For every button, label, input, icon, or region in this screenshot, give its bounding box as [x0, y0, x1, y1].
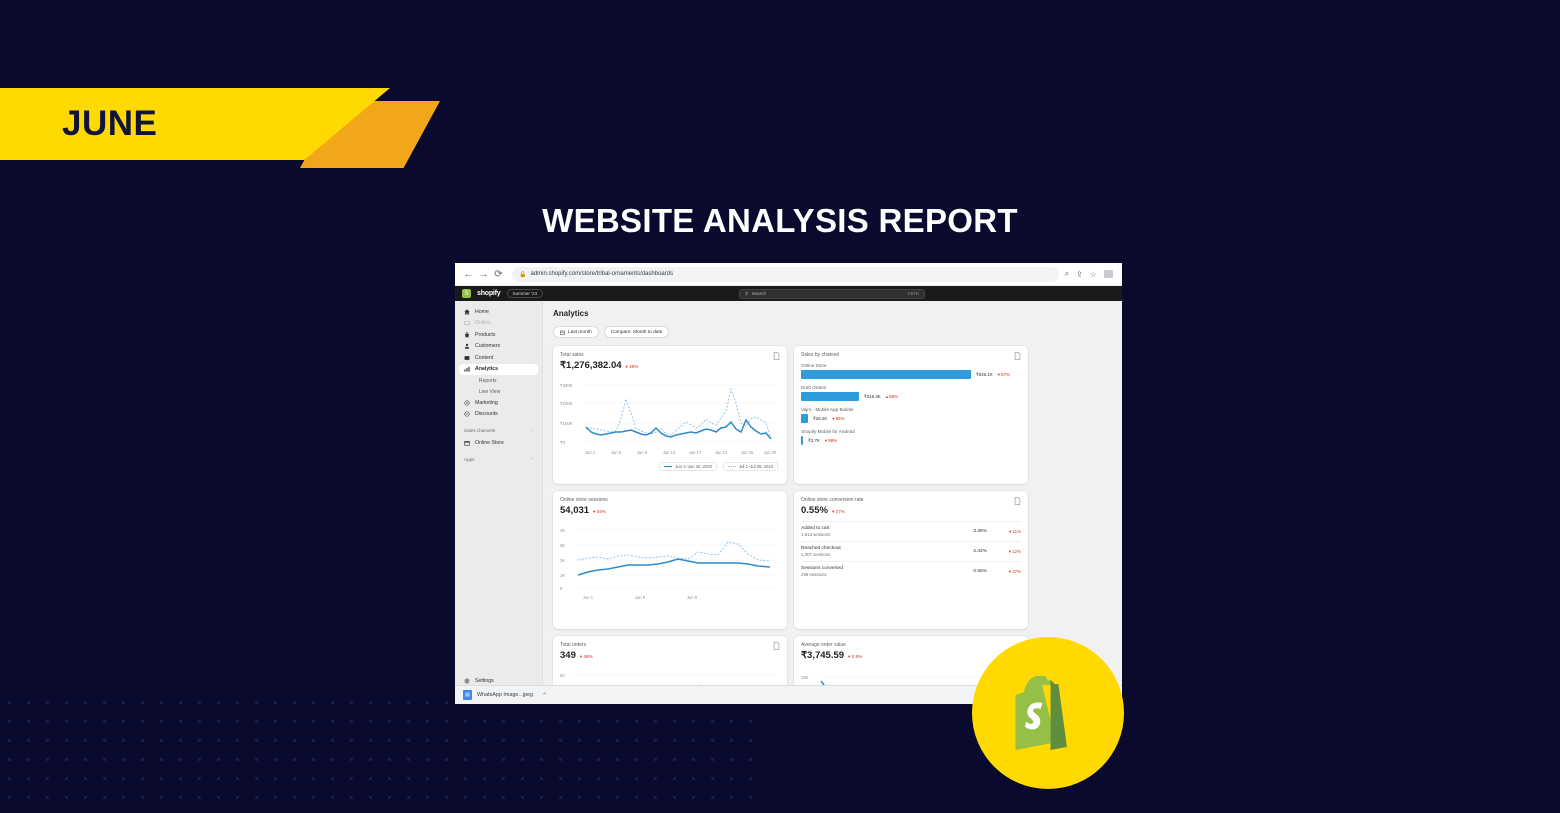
channel-rows: Online Store ₹926.1K ▾ 57% Draft Orders [801, 363, 1021, 445]
section-label: Sales channels [464, 428, 495, 433]
chart-legend: Jun 1–Jun 30, 2023 Jul 1–Jul 29, 2023 [560, 462, 780, 471]
chevron-up-icon[interactable]: ⌃ [542, 692, 547, 699]
legend-item[interactable]: Jul 1–Jul 29, 2023 [723, 462, 778, 471]
svg-text:₹100K: ₹100K [560, 421, 573, 426]
sidebar-subitem-live-view[interactable]: Live View [459, 386, 538, 397]
channel-delta: ▾ 56% [832, 416, 844, 422]
analytics-content: Analytics Last month Compare: Month to d… [543, 301, 1122, 695]
report-icon[interactable] [1014, 352, 1021, 360]
row-delta: ▾ 27% [987, 569, 1021, 575]
channel-label: Vajro - Mobile App Builder [801, 407, 1021, 412]
card-title: Sales by channel [801, 352, 1021, 358]
sidebar-item-label: Settings [475, 678, 494, 684]
report-icon[interactable] [773, 352, 780, 360]
sidebar-item-label: Discounts [475, 411, 498, 417]
extensions-icon[interactable] [1104, 270, 1113, 278]
svg-text:Jun 9: Jun 9 [687, 595, 698, 600]
channel-row: Vajro - Mobile App Builder ₹28.2K ▾ 56% [801, 407, 1021, 423]
svg-text:₹200K: ₹200K [560, 401, 573, 406]
card-title: Online store sessions [560, 497, 780, 503]
page-title: WEBSITE ANALYSIS REPORT [0, 202, 1560, 240]
channel-value: ₹926.1K [976, 372, 993, 378]
back-icon[interactable]: ← [461, 267, 476, 282]
channel-bar [801, 392, 859, 401]
sidebar-item-online-store[interactable]: Online Store [459, 437, 538, 449]
row-delta: ▾ 11% [987, 529, 1021, 535]
svg-text:15K: 15K [801, 675, 809, 680]
chrome-toolbar-icons: ⌕ ⇪ ☆ [1065, 269, 1116, 279]
row-name: Added to cart [801, 526, 830, 531]
channel-value: ₹316.3K [864, 394, 881, 400]
star-icon[interactable]: ☆ [1090, 270, 1097, 279]
total-sales-chart: ₹300K₹200K ₹100K₹0 Jun 1Jun 5 [560, 377, 780, 459]
channel-bar [801, 414, 808, 423]
row-name: Sessions converted [801, 566, 843, 571]
sidebar-section-apps[interactable]: Apps › [455, 453, 542, 466]
sidebar-item-discounts[interactable]: Discounts [459, 409, 538, 421]
sessions-chart: 4K3K 2K1K0 Jun 1Jun 5Jun 9 [560, 522, 780, 604]
card-title: Total sales [560, 352, 780, 358]
chevron-right-icon: › [531, 456, 533, 462]
svg-text:Jun 21: Jun 21 [715, 450, 728, 455]
sidebar-item-label: Products [475, 332, 495, 338]
shopify-wordmark: shopify [477, 290, 501, 297]
discounts-icon [464, 411, 470, 417]
card-value: 54,031 ▾ 34% [560, 505, 780, 516]
svg-text:Jun 1: Jun 1 [585, 450, 596, 455]
sidebar-item-marketing[interactable]: Marketing [459, 397, 538, 409]
sidebar-item-customers[interactable]: Customers [459, 341, 538, 353]
table-row[interactable]: Added to cart 1,813 sessions 3.36% ▾ 11% [801, 521, 1021, 541]
sidebar-item-label: Content [475, 355, 493, 361]
sidebar-item-label: Home [475, 309, 489, 315]
channel-delta: ▾ 58% [825, 438, 837, 444]
card-value: 349 ▾ 48% [560, 650, 780, 661]
value-text: 54,031 [560, 505, 589, 516]
sidebar-item-label: Marketing [475, 400, 498, 406]
table-row[interactable]: Sessions converted 295 sessions 0.55% ▾ … [801, 561, 1021, 581]
reload-icon[interactable]: ⟳ [491, 267, 506, 282]
value-text: ₹3,745.59 [801, 650, 844, 661]
card-value: ₹3,745.59 ▾ 0.8% [801, 650, 1021, 661]
lock-icon: 🔒 [519, 271, 526, 278]
row-name: Reached checkout [801, 546, 841, 551]
delta-badge: ▾ 0.8% [848, 654, 862, 660]
sidebar-item-label: Analytics [475, 366, 498, 372]
date-range-filter[interactable]: Last month [553, 326, 599, 338]
sidebar-item-orders[interactable]: Orders [459, 318, 538, 330]
calendar-icon [560, 330, 565, 335]
search-placeholder: Search [751, 291, 766, 296]
delta-badge: ▾ 27% [832, 509, 845, 515]
svg-text:₹0: ₹0 [560, 440, 566, 445]
value-text: 0.55% [801, 505, 828, 516]
channel-row: Online Store ₹926.1K ▾ 57% [801, 363, 1021, 379]
card-online-store-sessions: Online store sessions 54,031 ▾ 34% 4K3K … [553, 491, 787, 629]
svg-text:Jun 17: Jun 17 [689, 450, 702, 455]
browser-window: ← → ⟳ 🔒 admin.shopify.com/store/tribal-o… [455, 263, 1122, 704]
browser-chrome: ← → ⟳ 🔒 admin.shopify.com/store/tribal-o… [455, 263, 1122, 286]
sidebar-item-label: Orders [475, 320, 491, 326]
row-pct: 2.42% [973, 549, 987, 554]
card-conversion-rate: Online store conversion rate 0.55% ▾ 27%… [794, 491, 1028, 629]
svg-text:Jun 5: Jun 5 [635, 595, 646, 600]
customers-icon [464, 343, 470, 349]
channel-row: Shopify Mobile for Android ₹3.7K ▾ 58% [801, 429, 1021, 445]
card-sales-by-channel: Sales by channel Online Store ₹926.1K ▾ … [794, 346, 1028, 484]
svg-text:Jun 1: Jun 1 [583, 595, 594, 600]
legend-line-solid [664, 466, 672, 467]
dot-texture [0, 693, 760, 813]
channel-label: Draft Orders [801, 385, 1021, 390]
row-pct: 3.36% [973, 529, 987, 534]
channel-delta: ▴ 69% [886, 394, 898, 400]
svg-text:Jun 5: Jun 5 [611, 450, 622, 455]
channel-value: ₹28.2K [813, 416, 827, 422]
delta-badge: ▾ 48% [626, 364, 639, 370]
channel-delta: ▾ 57% [998, 372, 1010, 378]
report-icon[interactable] [773, 642, 780, 650]
store-icon [464, 440, 470, 446]
forward-icon[interactable]: → [476, 267, 491, 282]
analytics-icon [464, 366, 470, 372]
channel-bar [801, 370, 971, 379]
row-pct: 0.55% [973, 569, 987, 574]
legend-line-dotted [728, 466, 736, 467]
shopify-bag-icon [1015, 676, 1081, 750]
sidebar-item-home[interactable]: Home [459, 306, 538, 318]
chevron-right-icon: › [531, 428, 533, 434]
sidebar-item-products[interactable]: Products [459, 329, 538, 341]
orders-icon [464, 320, 470, 326]
svg-text:₹300K: ₹300K [560, 383, 573, 388]
value-text: ₹1,276,382.04 [560, 360, 622, 371]
channel-row: Draft Orders ₹316.3K ▴ 69% [801, 385, 1021, 401]
sidebar-subitem-reports[interactable]: Reports [459, 375, 538, 386]
search-input[interactable]: ⚲ Search Ctrl K [739, 289, 925, 299]
address-bar[interactable]: 🔒 admin.shopify.com/store/tribal-ornamen… [512, 267, 1059, 282]
compare-filter[interactable]: Compare: Month to date [604, 326, 670, 338]
content-icon [464, 355, 470, 361]
store-badge[interactable]: Summer '23 [507, 289, 544, 298]
section-label: Apps [464, 457, 474, 462]
svg-text:60: 60 [560, 673, 565, 678]
analytics-heading: Analytics [553, 309, 1122, 318]
row-delta: ▾ 12% [987, 549, 1021, 555]
sidebar-item-label: Online Store [475, 440, 504, 446]
card-value: ₹1,276,382.04 ▾ 48% [560, 360, 780, 371]
gear-icon [464, 678, 470, 684]
delta-badge: ▾ 34% [593, 509, 606, 515]
svg-text:0: 0 [560, 586, 563, 591]
svg-text:3K: 3K [560, 543, 565, 548]
card-title: Total orders [560, 642, 780, 648]
sidebar-item-label: Customers [475, 343, 500, 349]
table-row[interactable]: Reached checkout 1,307 sessions 2.42% ▾ … [801, 541, 1021, 561]
svg-text:1K: 1K [560, 573, 565, 578]
filter-label: Last month [568, 330, 592, 335]
report-icon[interactable] [1014, 497, 1021, 505]
row-sub: 1,307 sessions [801, 552, 841, 557]
row-sub: 1,813 sessions [801, 532, 830, 537]
card-title: Online store conversion rate [801, 497, 1021, 503]
channel-label: Online Store [801, 363, 1021, 368]
svg-text:Jun 9: Jun 9 [637, 450, 648, 455]
url-text: admin.shopify.com/store/tribal-ornaments… [530, 271, 673, 277]
search-icon: ⚲ [745, 291, 748, 297]
legend-item[interactable]: Jun 1–Jun 30, 2023 [659, 462, 717, 471]
shopify-logo-icon: S [462, 289, 471, 298]
channel-bar [801, 436, 803, 445]
channel-label: Shopify Mobile for Android [801, 429, 1021, 434]
svg-text:Jun 29: Jun 29 [764, 450, 777, 455]
filter-label: Compare: Month to date [611, 330, 663, 335]
home-icon [464, 309, 470, 315]
marketing-icon [464, 400, 470, 406]
sidebar: Home Orders Products Customers Content A [455, 301, 543, 695]
download-filename[interactable]: WhatsApp Image...jpeg [477, 692, 533, 698]
filter-bar: Last month Compare: Month to date [553, 326, 1122, 338]
shopify-badge [972, 637, 1124, 789]
zoom-icon[interactable]: ⌕ [1065, 269, 1069, 279]
svg-text:4K: 4K [560, 528, 565, 533]
card-title: Average order value [801, 642, 1021, 648]
value-text: 349 [560, 650, 576, 661]
card-value: 0.55% ▾ 27% [801, 505, 1021, 516]
app-body: Home Orders Products Customers Content A [455, 301, 1122, 695]
sidebar-section-sales-channels[interactable]: Sales channels › [455, 424, 542, 437]
svg-text:Jun 25: Jun 25 [741, 450, 754, 455]
shopify-topbar: S shopify Summer '23 ⚲ Search Ctrl K [455, 286, 1122, 301]
row-sub: 295 sessions [801, 572, 843, 577]
svg-text:2K: 2K [560, 558, 565, 563]
svg-text:Jun 13: Jun 13 [663, 450, 676, 455]
search-shortcut: Ctrl K [908, 291, 919, 296]
sidebar-item-analytics[interactable]: Analytics [459, 364, 538, 376]
delta-badge: ▾ 48% [580, 654, 593, 660]
products-icon [464, 332, 470, 338]
file-icon: ▤ [463, 690, 472, 700]
share-icon[interactable]: ⇪ [1076, 270, 1083, 279]
channel-value: ₹3.7K [808, 438, 820, 444]
sidebar-item-content[interactable]: Content [459, 352, 538, 364]
month-label: JUNE [62, 104, 157, 144]
card-total-sales: Total sales ₹1,276,382.04 ▾ 48% ₹300K₹20… [553, 346, 787, 484]
